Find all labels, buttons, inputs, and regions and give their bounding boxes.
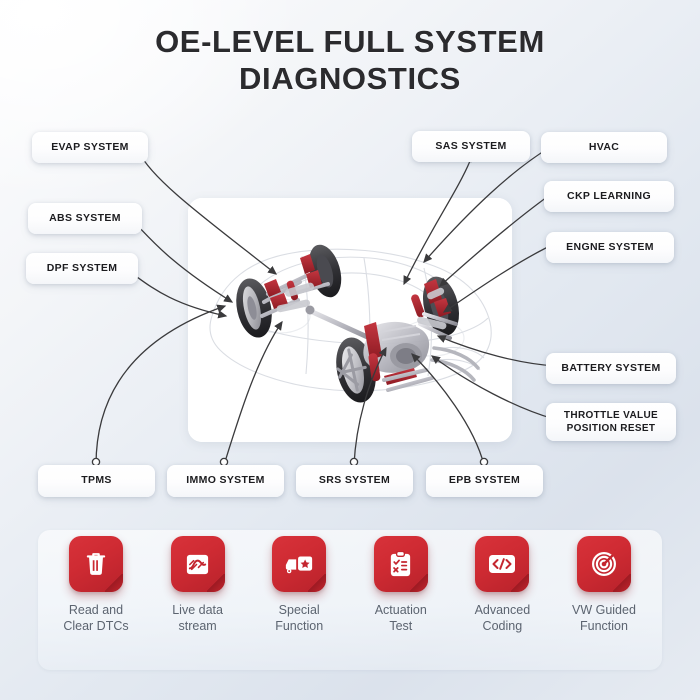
feature-tile[interactable] bbox=[171, 536, 225, 592]
feature-vw-guided-function[interactable]: VW Guided Function bbox=[556, 536, 652, 634]
label-throttle-value-position-reset[interactable]: THROTTLE VALUE POSITION RESET bbox=[546, 403, 676, 441]
feature-label-line-2: Function bbox=[275, 619, 323, 635]
feature-live-data-stream[interactable]: Live data stream bbox=[150, 536, 246, 634]
label-dpf-system[interactable]: DPF SYSTEM bbox=[26, 253, 138, 284]
label-abs-system-text: ABS SYSTEM bbox=[49, 212, 121, 225]
page-title-line-2: DIAGNOSTICS bbox=[0, 61, 700, 98]
feature-tile[interactable] bbox=[374, 536, 428, 592]
feature-read-and-clear-dtcs[interactable]: Read and Clear DTCs bbox=[48, 536, 144, 634]
feature-list: Read and Clear DTCs Live data stream bbox=[48, 536, 652, 666]
label-ckp-learning[interactable]: CKP LEARNING bbox=[544, 181, 674, 212]
feature-label-line-1: Advanced bbox=[475, 603, 531, 619]
car-star-icon bbox=[284, 551, 314, 577]
label-battery-system[interactable]: BATTERY SYSTEM bbox=[546, 353, 676, 384]
feature-label: Live data stream bbox=[172, 603, 223, 634]
feature-label: VW Guided Function bbox=[572, 603, 636, 634]
label-battery-system-text: BATTERY SYSTEM bbox=[561, 362, 660, 375]
feature-tile[interactable] bbox=[475, 536, 529, 592]
label-evap-system[interactable]: EVAP SYSTEM bbox=[32, 132, 148, 163]
label-epb-system-text: EPB SYSTEM bbox=[449, 474, 520, 487]
feature-label-line-2: Coding bbox=[475, 619, 531, 635]
label-tpms[interactable]: TPMS bbox=[38, 465, 155, 497]
feature-label: Read and Clear DTCs bbox=[63, 603, 128, 634]
feature-label-line-2: stream bbox=[172, 619, 223, 635]
feature-label-line-1: VW Guided bbox=[572, 603, 636, 619]
label-hvac[interactable]: HVAC bbox=[541, 132, 667, 163]
feature-tile[interactable] bbox=[272, 536, 326, 592]
feature-label-line-2: Function bbox=[572, 619, 636, 635]
feature-label-line-2: Clear DTCs bbox=[63, 619, 128, 635]
label-sas-system-text: SAS SYSTEM bbox=[435, 140, 506, 153]
label-engne-system-text: ENGNE SYSTEM bbox=[566, 241, 654, 254]
feature-actuation-test[interactable]: Actuation Test bbox=[353, 536, 449, 634]
feature-label-line-2: Test bbox=[375, 619, 427, 635]
label-ckp-learning-text: CKP LEARNING bbox=[567, 190, 651, 203]
car-chassis-illustration bbox=[188, 198, 512, 442]
feature-label-line-1: Live data bbox=[172, 603, 223, 619]
label-srs-system[interactable]: SRS SYSTEM bbox=[296, 465, 413, 497]
label-tpms-text: TPMS bbox=[81, 474, 112, 487]
label-evap-system-text: EVAP SYSTEM bbox=[51, 141, 129, 154]
label-immo-system-text: IMMO SYSTEM bbox=[186, 474, 265, 487]
label-epb-system[interactable]: EPB SYSTEM bbox=[426, 465, 543, 497]
page-title-line-1: OE-LEVEL FULL SYSTEM bbox=[0, 24, 700, 61]
label-throttle-line-2: POSITION RESET bbox=[567, 422, 656, 435]
feature-tile[interactable] bbox=[577, 536, 631, 592]
trash-icon bbox=[83, 551, 109, 577]
feature-label-line-1: Actuation bbox=[375, 603, 427, 619]
label-abs-system[interactable]: ABS SYSTEM bbox=[28, 203, 142, 234]
label-srs-system-text: SRS SYSTEM bbox=[319, 474, 390, 487]
code-brackets-icon bbox=[487, 552, 517, 576]
feature-label-line-1: Read and bbox=[63, 603, 128, 619]
feature-label: Advanced Coding bbox=[475, 603, 531, 634]
clipboard-check-icon bbox=[388, 551, 413, 578]
car-chassis-panel bbox=[188, 198, 512, 442]
label-hvac-text: HVAC bbox=[589, 141, 619, 154]
page-title: OE-LEVEL FULL SYSTEM DIAGNOSTICS bbox=[0, 24, 700, 97]
label-throttle-line-1: THROTTLE VALUE bbox=[564, 409, 658, 422]
feature-advanced-coding[interactable]: Advanced Coding bbox=[454, 536, 550, 634]
feature-label-line-1: Special bbox=[275, 603, 323, 619]
poster-root: OE-LEVEL FULL SYSTEM DIAGNOSTICS bbox=[0, 0, 700, 700]
target-icon bbox=[590, 550, 618, 578]
label-immo-system[interactable]: IMMO SYSTEM bbox=[167, 465, 284, 497]
feature-special-function[interactable]: Special Function bbox=[251, 536, 347, 634]
label-sas-system[interactable]: SAS SYSTEM bbox=[412, 131, 530, 162]
label-dpf-system-text: DPF SYSTEM bbox=[47, 262, 118, 275]
label-engne-system[interactable]: ENGNE SYSTEM bbox=[546, 232, 674, 263]
chart-wave-icon bbox=[184, 551, 211, 578]
feature-label: Actuation Test bbox=[375, 603, 427, 634]
feature-tile[interactable] bbox=[69, 536, 123, 592]
feature-label: Special Function bbox=[275, 603, 323, 634]
